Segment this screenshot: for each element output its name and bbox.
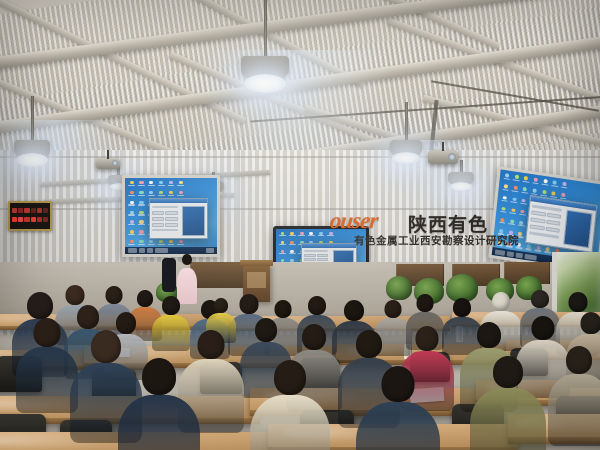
lamp-rod	[31, 96, 34, 146]
desktop-icon[interactable]	[560, 181, 569, 191]
desktop-icon-label	[521, 191, 528, 193]
audience-member-front	[118, 358, 200, 450]
person-head	[240, 294, 259, 314]
person-head	[356, 330, 382, 358]
lamp-rod	[264, 0, 267, 64]
dialog-body	[526, 201, 595, 251]
desktop-icon[interactable]	[512, 174, 521, 184]
desktop-icon[interactable]	[147, 239, 155, 247]
person-body	[16, 347, 78, 413]
desktop-icon-label	[177, 195, 184, 196]
taskbar-item[interactable]	[155, 248, 167, 252]
person-head	[162, 296, 180, 315]
person-head	[531, 290, 549, 308]
desktop-icon[interactable]	[279, 231, 287, 238]
desktop-icon-label	[177, 244, 184, 245]
desktop-icon-glyph	[524, 176, 528, 180]
audience-member-front	[470, 356, 546, 450]
dialog-body	[150, 203, 207, 238]
desktop-icon[interactable]	[128, 220, 136, 228]
wall-led-display	[8, 201, 52, 231]
dialog-cell	[152, 223, 164, 227]
person-head	[302, 324, 326, 350]
ceiling-projector-right	[428, 150, 458, 164]
desktop-icon-glyph	[543, 179, 547, 183]
desktop-icon[interactable]	[138, 180, 146, 188]
banner-brand-text: ouser	[329, 208, 379, 234]
desktop-icon-glyph	[562, 182, 566, 186]
person-head	[532, 316, 555, 340]
person-head	[77, 305, 99, 329]
desktop-icon-label	[298, 235, 305, 236]
desktop-icon[interactable]	[541, 178, 550, 188]
person-body	[548, 374, 600, 446]
projection-screen-left[interactable]	[122, 175, 220, 257]
desktop-icon[interactable]	[177, 239, 185, 247]
windows-desktop-left[interactable]	[125, 178, 217, 254]
desktop-icon[interactable]	[128, 200, 136, 208]
person-head	[492, 292, 510, 311]
desktop-icon-label	[148, 195, 155, 196]
led-text-row	[12, 216, 48, 222]
wall-seam	[0, 156, 600, 158]
ceiling-projector-left	[96, 158, 120, 169]
dialog-field	[152, 206, 178, 209]
desktop-icon[interactable]	[128, 239, 136, 247]
desktop-icon-glyph	[179, 191, 183, 194]
presenter-head	[182, 254, 192, 265]
windows-taskbar[interactable]	[125, 247, 217, 254]
desktop-icon-label	[502, 189, 509, 191]
person-head	[308, 296, 326, 315]
desktop-icon-glyph	[159, 191, 163, 194]
audience-member	[16, 318, 78, 413]
desktop-icon-label	[128, 214, 135, 215]
desktop-icon[interactable]	[128, 190, 136, 198]
desktop-icon-label	[168, 185, 175, 186]
lamp-bulb	[392, 152, 420, 164]
desktop-icon[interactable]	[138, 190, 146, 198]
dialog-field	[152, 229, 178, 232]
desktop-icon-label	[512, 190, 519, 192]
desktop-icon-label	[561, 186, 568, 188]
person-head	[274, 360, 306, 395]
speaker-stand	[162, 258, 176, 292]
desktop-icon-label	[138, 185, 145, 186]
dialog-cell	[545, 226, 560, 233]
person-body	[470, 388, 546, 450]
desktop-icon[interactable]	[521, 186, 530, 196]
desktop-icon-glyph	[534, 178, 538, 182]
desktop-icon[interactable]	[288, 249, 296, 256]
desktop-icon-label	[148, 244, 155, 245]
dialog-cell	[547, 212, 562, 219]
desktop-icon-glyph	[130, 181, 134, 184]
desktop-icon[interactable]	[510, 196, 519, 206]
dialog-preview-pane	[563, 209, 592, 248]
desktop-icon[interactable]	[138, 220, 146, 228]
person-head	[34, 318, 61, 347]
desktop-icon-label	[289, 253, 296, 254]
person-head	[382, 366, 415, 402]
desktop-icon-glyph	[149, 240, 153, 243]
desktop-icon-label	[128, 204, 135, 205]
desktop-icon-label	[551, 185, 558, 187]
desktop-icon-glyph	[149, 181, 153, 184]
desktop-icon[interactable]	[522, 175, 531, 185]
desktop-icon-label	[503, 178, 510, 180]
dialog-row	[152, 217, 178, 221]
audience-member-front	[356, 366, 440, 450]
desktop-icon-label	[128, 195, 135, 196]
person-head	[581, 312, 600, 334]
desktop-icon-glyph	[169, 240, 173, 243]
person-head	[477, 322, 501, 348]
dialog-cell	[152, 217, 164, 221]
desktop-icon-glyph	[130, 191, 134, 194]
person-head	[255, 318, 277, 342]
desktop-icon-label	[128, 244, 135, 245]
desktop-icon[interactable]	[550, 180, 559, 190]
desktop-icon-label	[544, 251, 551, 253]
person-head	[198, 330, 225, 359]
desktop-icon[interactable]	[138, 210, 146, 218]
person-body	[250, 395, 330, 450]
desktop-icon-glyph	[179, 240, 183, 243]
desktop-icon[interactable]	[177, 180, 185, 188]
desktop-icon[interactable]	[138, 200, 146, 208]
desktop-icon[interactable]	[503, 172, 512, 182]
person-head	[137, 290, 153, 307]
desktop-icon[interactable]	[167, 180, 175, 188]
audience-member-front	[250, 360, 330, 450]
desktop-icon[interactable]	[531, 177, 540, 187]
desktop-icon-glyph	[505, 173, 509, 177]
desktop-icon[interactable]	[288, 240, 296, 247]
system-tray[interactable]	[206, 248, 214, 252]
person-head	[214, 298, 228, 313]
desktop-icon-label	[168, 195, 175, 196]
person-head	[142, 358, 176, 395]
desktop-dialog-window[interactable]	[525, 195, 597, 253]
desktop-icon-label	[177, 185, 184, 186]
desktop-icon-label	[138, 234, 145, 235]
desktop-icon[interactable]	[138, 229, 146, 237]
desktop-icon-label	[513, 179, 520, 181]
pendant-lamp-far-right	[448, 160, 474, 204]
desktop-icon-glyph	[553, 181, 557, 185]
desktop-icon-label	[520, 202, 527, 204]
desktop-icon-label	[138, 214, 145, 215]
led-text-row	[12, 207, 48, 213]
desktop-icon-label	[511, 201, 518, 203]
pendant-lamp-right	[390, 102, 422, 176]
taskbar-item[interactable]	[147, 248, 153, 252]
desktop-icon[interactable]	[279, 240, 287, 247]
desktop-icon-label	[501, 200, 508, 202]
dialog-field	[304, 250, 328, 252]
dialog-cell	[317, 258, 329, 261]
desktop-icon[interactable]	[128, 229, 136, 237]
pendant-lamp-left	[14, 96, 50, 176]
desktop-icon[interactable]	[128, 210, 136, 218]
desktop-icon[interactable]	[167, 190, 175, 198]
desktop-icon-label	[542, 183, 549, 185]
desktop-icon-label	[535, 249, 542, 251]
dialog-cell	[165, 211, 177, 215]
dialog-cell	[317, 254, 329, 257]
pendant-lamp-center	[242, 0, 288, 110]
desktop-icon-label	[289, 235, 296, 236]
desktop-icon-glyph	[514, 175, 518, 179]
desktop-icon-label	[289, 244, 296, 245]
person-head	[493, 356, 523, 388]
desktop-icon-glyph	[159, 240, 163, 243]
dialog-cell	[304, 258, 316, 261]
person-head	[416, 326, 439, 351]
desktop-icon-label	[308, 235, 315, 236]
person-body	[118, 395, 200, 450]
dialog-cell	[546, 219, 561, 226]
person-head	[417, 294, 434, 312]
desktop-icon-label	[138, 224, 145, 225]
company-banner: ouser 陕西有色 有色金属工业西安勘察设计研究院	[330, 206, 530, 252]
desktop-icon-label	[279, 235, 286, 236]
person-body	[356, 402, 440, 450]
lamp-bulb	[450, 182, 472, 191]
desktop-icon-label	[279, 253, 286, 254]
desktop-icon-glyph	[139, 181, 143, 184]
desktop-icon[interactable]	[308, 231, 316, 238]
start-button[interactable]	[128, 248, 137, 252]
dialog-cell	[165, 223, 177, 227]
desktop-icon-label	[168, 244, 175, 245]
person-head	[569, 292, 588, 312]
person-head	[385, 300, 402, 318]
person-head	[27, 292, 53, 319]
dialog-cell	[531, 217, 546, 224]
desktop-icon[interactable]	[298, 231, 306, 238]
desktop-dialog-window[interactable]	[149, 198, 208, 240]
desktop-icon[interactable]	[157, 190, 165, 198]
desktop-icon[interactable]	[501, 183, 510, 193]
dialog-cell	[530, 224, 545, 231]
desktop-icon-label	[158, 195, 165, 196]
desktop-icon-glyph	[149, 191, 153, 194]
dialog-row	[304, 254, 328, 257]
desktop-icon-label	[318, 235, 325, 236]
lecture-hall-photo: ouser 陕西有色 有色金属工业西安勘察设计研究院	[0, 0, 600, 450]
desktop-icon-label	[128, 234, 135, 235]
desktop-icon-glyph	[179, 181, 183, 184]
projector-lens	[448, 153, 456, 161]
desktop-icon-label	[279, 244, 286, 245]
audience-member	[548, 346, 600, 446]
dialog-row	[152, 223, 178, 227]
desktop-icon[interactable]	[128, 180, 136, 188]
desktop-icon-label	[148, 185, 155, 186]
person-head	[91, 330, 121, 363]
dialog-cell	[532, 210, 547, 217]
desktop-icon[interactable]	[167, 239, 175, 247]
person-head	[566, 346, 592, 374]
desktop-icon-label	[138, 204, 145, 205]
desktop-icon-label	[138, 195, 145, 196]
projector-lens	[112, 160, 118, 166]
desktop-icon-glyph	[139, 191, 143, 194]
person-head	[453, 298, 471, 317]
desktop-icon-glyph	[159, 181, 163, 184]
desktop-icon[interactable]	[147, 190, 155, 198]
person-head	[66, 285, 85, 305]
desktop-icon-glyph	[130, 240, 134, 243]
desktop-icon-label	[158, 185, 165, 186]
lamp-bulb	[16, 153, 48, 167]
person-head	[106, 286, 123, 304]
dialog-form-area[interactable]	[150, 203, 180, 238]
desktop-icon-label	[532, 182, 539, 184]
dialog-row	[152, 211, 178, 215]
desktop-icon[interactable]	[157, 180, 165, 188]
dialog-preview-pane	[182, 206, 204, 236]
desktop-icon-glyph	[169, 181, 173, 184]
banner-subtitle: 有色金属工业西安勘察设计研究院	[354, 233, 519, 248]
lamp-bulb	[244, 74, 286, 93]
desktop-icon-label	[522, 180, 529, 182]
desktop-icon[interactable]	[279, 249, 287, 256]
desktop-icon[interactable]	[138, 239, 146, 247]
desktop-icon[interactable]	[177, 190, 185, 198]
desktop-icon-label	[128, 224, 135, 225]
desktop-icon-label	[138, 244, 145, 245]
dialog-cell	[165, 217, 177, 221]
desktop-icon[interactable]	[157, 239, 165, 247]
desktop-icon[interactable]	[147, 180, 155, 188]
dialog-cell	[304, 254, 316, 257]
desktop-icon-glyph	[169, 191, 173, 194]
desktop-icon-label	[158, 244, 165, 245]
desktop-icon[interactable]	[288, 231, 296, 238]
person-head	[275, 300, 292, 318]
desktop-icon[interactable]	[511, 185, 520, 195]
dialog-cell	[152, 211, 164, 215]
taskbar-item[interactable]	[516, 252, 523, 258]
dialog-row	[304, 258, 328, 261]
desktop-icon[interactable]	[500, 195, 509, 205]
person-head	[344, 300, 364, 321]
podium-front-panel	[247, 272, 266, 288]
desktop-icon-label	[128, 185, 135, 186]
taskbar-item[interactable]	[524, 254, 536, 261]
taskbar-item[interactable]	[139, 248, 145, 252]
desktop-icon-glyph	[139, 240, 143, 243]
dialog-form-area[interactable]	[526, 201, 565, 247]
desktop-icon[interactable]	[317, 231, 325, 238]
